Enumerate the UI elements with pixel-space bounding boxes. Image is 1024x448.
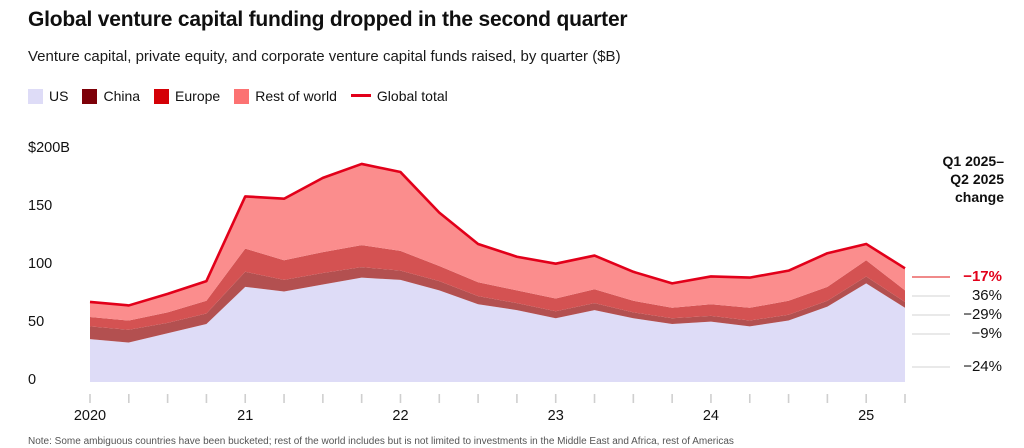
x-axis-tick-label: 23 <box>516 408 596 424</box>
x-axis-tick-label: 24 <box>671 408 751 424</box>
change-value-rest-of-world: 36% <box>930 287 1002 304</box>
y-axis-tick-label: 0 <box>28 372 36 388</box>
change-value-china: −9% <box>930 325 1002 342</box>
y-axis-tick-label: 50 <box>28 314 44 330</box>
change-value-europe: −29% <box>930 306 1002 323</box>
change-value-global-total: −17% <box>930 268 1002 285</box>
x-axis-tick-label: 25 <box>826 408 906 424</box>
y-axis-tick-label: $200B <box>28 140 70 156</box>
stacked-area-chart <box>0 0 1024 448</box>
chart-page: Global venture capital funding dropped i… <box>0 0 1024 448</box>
chart-plot-area: 050100150$200B20202122232425 <box>0 0 1024 448</box>
change-column-heading: Q1 2025– Q2 2025 change <box>894 152 1004 206</box>
chart-footnote: Note: Some ambiguous countries have been… <box>28 436 734 447</box>
change-heading-line-1: Q1 2025– <box>943 153 1005 169</box>
x-axis-tick-label: 22 <box>360 408 440 424</box>
x-axis-tick-label: 2020 <box>50 408 130 424</box>
change-value-us: −24% <box>930 358 1002 375</box>
x-axis-tick-label: 21 <box>205 408 285 424</box>
change-heading-line-2: Q2 2025 <box>950 171 1004 187</box>
y-axis-tick-label: 100 <box>28 256 52 272</box>
change-heading-line-3: change <box>955 189 1004 205</box>
y-axis-tick-label: 150 <box>28 198 52 214</box>
